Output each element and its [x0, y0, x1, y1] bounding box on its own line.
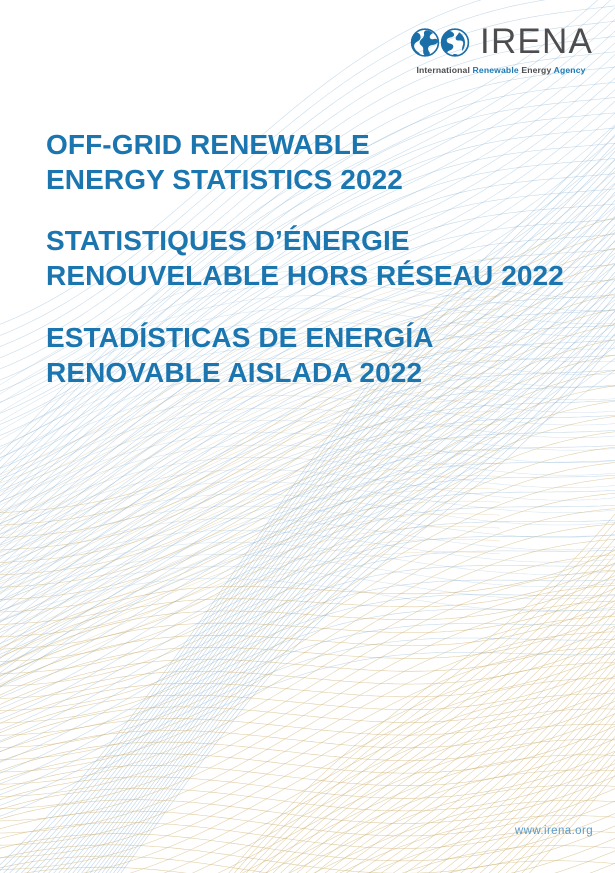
- logo-tagline: International Renewable Energy Agency: [416, 66, 585, 75]
- title-spanish-line2: RENOVABLE AISLADA 2022: [46, 356, 591, 391]
- title-english-line1: OFF-GRID RENEWABLE: [46, 128, 591, 163]
- title-group: OFF-GRID RENEWABLE ENERGY STATISTICS 202…: [46, 128, 591, 390]
- irena-logo: IRENA International Renewable Energy Age…: [409, 24, 593, 75]
- tagline-word-renewable: Renewable: [473, 65, 519, 75]
- tagline-word-agency: Agency: [554, 65, 586, 75]
- title-english: OFF-GRID RENEWABLE ENERGY STATISTICS 202…: [46, 128, 591, 197]
- tagline-word-international: International: [416, 65, 470, 75]
- title-french-line2: RENOUVELABLE HORS RÉSEAU 2022: [46, 259, 591, 294]
- globes-icon: [409, 27, 471, 58]
- title-french: STATISTIQUES D’ÉNERGIE RENOUVELABLE HORS…: [46, 224, 591, 293]
- footer-website-link[interactable]: www.irena.org: [515, 825, 593, 837]
- title-french-line1: STATISTIQUES D’ÉNERGIE: [46, 224, 591, 259]
- title-spanish: ESTADÍSTICAS DE ENERGÍA RENOVABLE AISLAD…: [46, 321, 591, 390]
- logo-lockup: IRENA: [409, 24, 593, 61]
- tagline-word-energy: Energy: [521, 65, 551, 75]
- title-english-line2: ENERGY STATISTICS 2022: [46, 163, 591, 198]
- title-spanish-line1: ESTADÍSTICAS DE ENERGÍA: [46, 321, 591, 356]
- cover-page: IRENA International Renewable Energy Age…: [0, 0, 615, 873]
- logo-wordmark: IRENA: [480, 24, 593, 61]
